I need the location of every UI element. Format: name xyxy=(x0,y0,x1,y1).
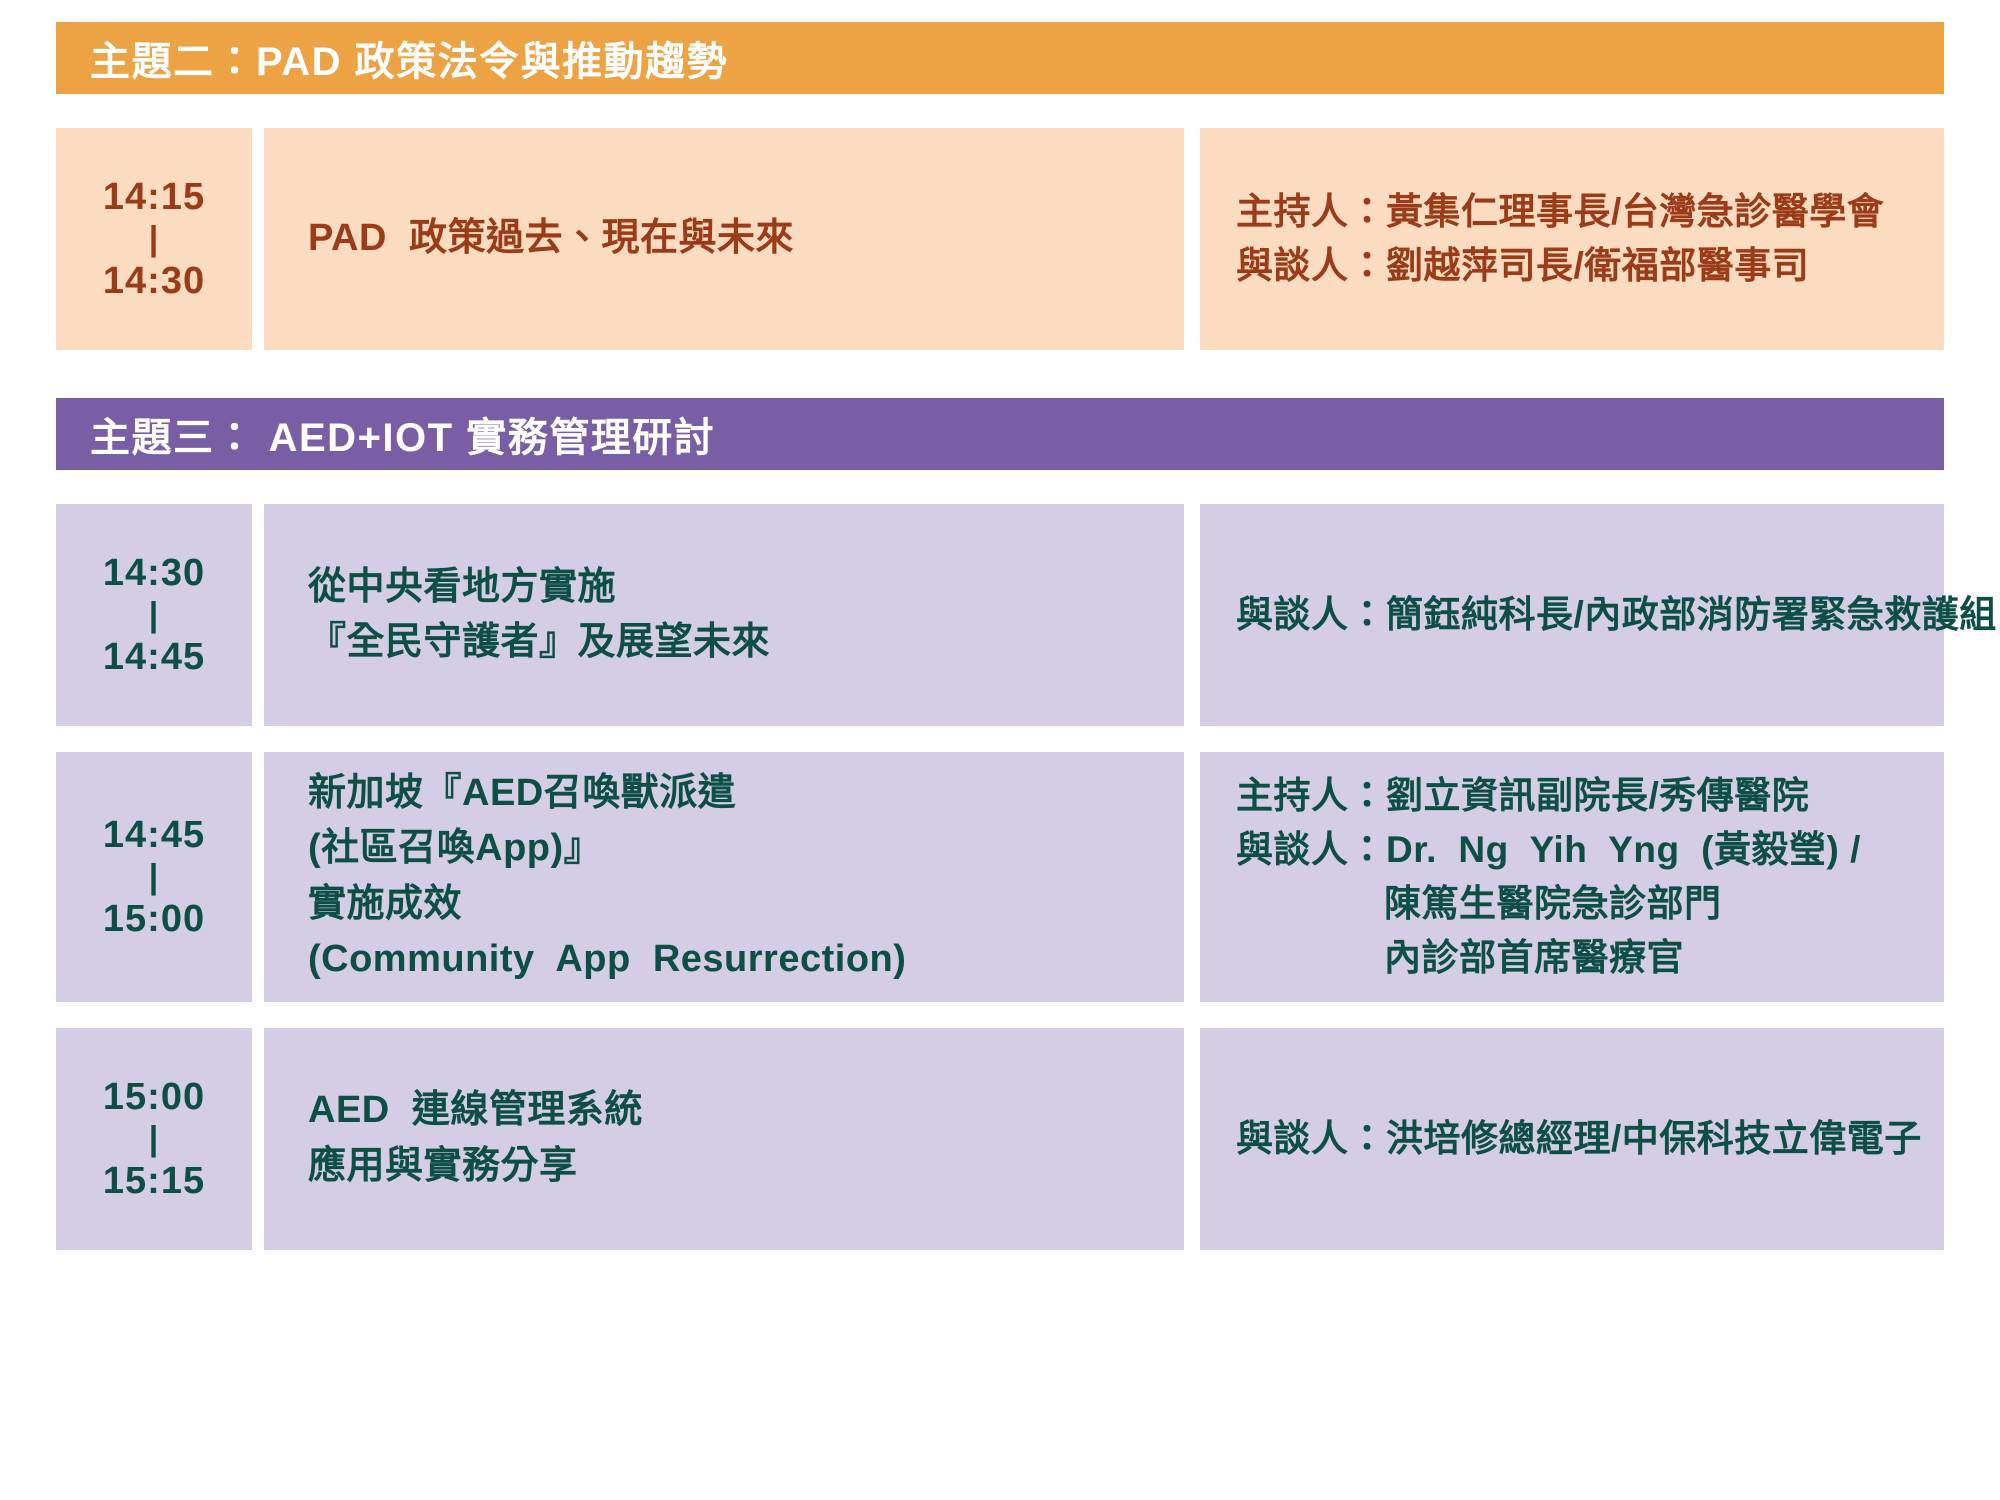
speaker-line: 內診部首席醫療官 xyxy=(1236,931,1861,985)
speaker-line: 陳篤生醫院急診部門 xyxy=(1236,877,1861,931)
session-time-cell: 14:15 | 14:30 xyxy=(56,128,252,350)
topic-line: 應用與實務分享 xyxy=(308,1139,643,1194)
topic-line: 『全民守護者』及展望未來 xyxy=(308,615,770,670)
time-separator: | xyxy=(103,860,205,894)
session-speaker-cell: 與談人：簡鈺純科長/內政部消防署緊急救護組 xyxy=(1200,504,1944,726)
session-time-cell: 14:30 | 14:45 xyxy=(56,504,252,726)
session-speaker-cell: 主持人：黃集仁理事長/台灣急診醫學會 與談人：劉越萍司長/衛福部醫事司 xyxy=(1200,128,1944,350)
agenda-page: 主題二：PAD 政策法令與推動趨勢 14:15 | 14:30 PAD 政策過去… xyxy=(0,0,2000,1500)
session-speaker-cell: 主持人：劉立資訊副院長/秀傳醫院 與談人：Dr. Ng Yih Yng (黃毅瑩… xyxy=(1200,752,1944,1002)
time-end: 14:30 xyxy=(103,258,205,304)
session-time-cell: 14:45 | 15:00 xyxy=(56,752,252,1002)
table-row: 14:30 | 14:45 從中央看地方實施 『全民守護者』及展望未來 與談人：… xyxy=(56,504,1944,726)
session-topic-cell: AED 連線管理系統 應用與實務分享 xyxy=(264,1028,1184,1250)
table-row: 15:00 | 15:15 AED 連線管理系統 應用與實務分享 與談人：洪培修… xyxy=(56,1028,1944,1250)
topic-line: PAD 政策過去、現在與未來 xyxy=(308,211,794,266)
section-header-topic-three: 主題三： AED+IOT 實務管理研討 xyxy=(56,398,1944,470)
session-topic-cell: 從中央看地方實施 『全民守護者』及展望未來 xyxy=(264,504,1184,726)
table-row: 14:15 | 14:30 PAD 政策過去、現在與未來 主持人：黃集仁理事長/… xyxy=(56,128,1944,350)
speaker-line: 與談人：簡鈺純科長/內政部消防署緊急救護組 xyxy=(1236,588,1997,642)
section-header-topic-two: 主題二：PAD 政策法令與推動趨勢 xyxy=(56,22,1944,94)
topic-line: (Community App Resurrection) xyxy=(308,932,906,987)
time-end: 15:00 xyxy=(103,896,205,942)
topic-line: 新加坡『AED召喚獸派遣 xyxy=(308,766,906,821)
session-time-cell: 15:00 | 15:15 xyxy=(56,1028,252,1250)
time-end: 15:15 xyxy=(103,1158,205,1204)
topic-line: 從中央看地方實施 xyxy=(308,560,770,615)
session-topic-cell: 新加坡『AED召喚獸派遣 (社區召喚App)』 實施成效 (Community … xyxy=(264,752,1184,1002)
speaker-line: 與談人：Dr. Ng Yih Yng (黃毅瑩) / xyxy=(1236,823,1861,877)
session-rows-topic-three: 14:30 | 14:45 從中央看地方實施 『全民守護者』及展望未來 與談人：… xyxy=(56,504,1944,1250)
speaker-line: 與談人：洪培修總經理/中保科技立偉電子 xyxy=(1236,1112,1922,1166)
spacer xyxy=(56,470,1944,504)
time-start: 14:45 xyxy=(103,812,205,858)
spacer xyxy=(56,376,1944,398)
time-end: 14:45 xyxy=(103,634,205,680)
table-row: 14:45 | 15:00 新加坡『AED召喚獸派遣 (社區召喚App)』 實施… xyxy=(56,752,1944,1002)
topic-line: AED 連線管理系統 xyxy=(308,1083,643,1138)
spacer xyxy=(56,94,1944,128)
time-separator: | xyxy=(103,598,205,632)
session-rows-topic-two: 14:15 | 14:30 PAD 政策過去、現在與未來 主持人：黃集仁理事長/… xyxy=(56,128,1944,350)
session-speaker-cell: 與談人：洪培修總經理/中保科技立偉電子 xyxy=(1200,1028,1944,1250)
speaker-line: 與談人：劉越萍司長/衛福部醫事司 xyxy=(1236,239,1884,293)
topic-line: (社區召喚App)』 xyxy=(308,821,906,876)
session-topic-cell: PAD 政策過去、現在與未來 xyxy=(264,128,1184,350)
time-start: 14:15 xyxy=(103,174,205,220)
speaker-line: 主持人：黃集仁理事長/台灣急診醫學會 xyxy=(1236,185,1884,239)
topic-line: 實施成效 xyxy=(308,877,906,932)
speaker-line: 主持人：劉立資訊副院長/秀傳醫院 xyxy=(1236,769,1861,823)
time-separator: | xyxy=(103,1122,205,1156)
time-start: 15:00 xyxy=(103,1074,205,1120)
time-start: 14:30 xyxy=(103,550,205,596)
time-separator: | xyxy=(103,222,205,256)
